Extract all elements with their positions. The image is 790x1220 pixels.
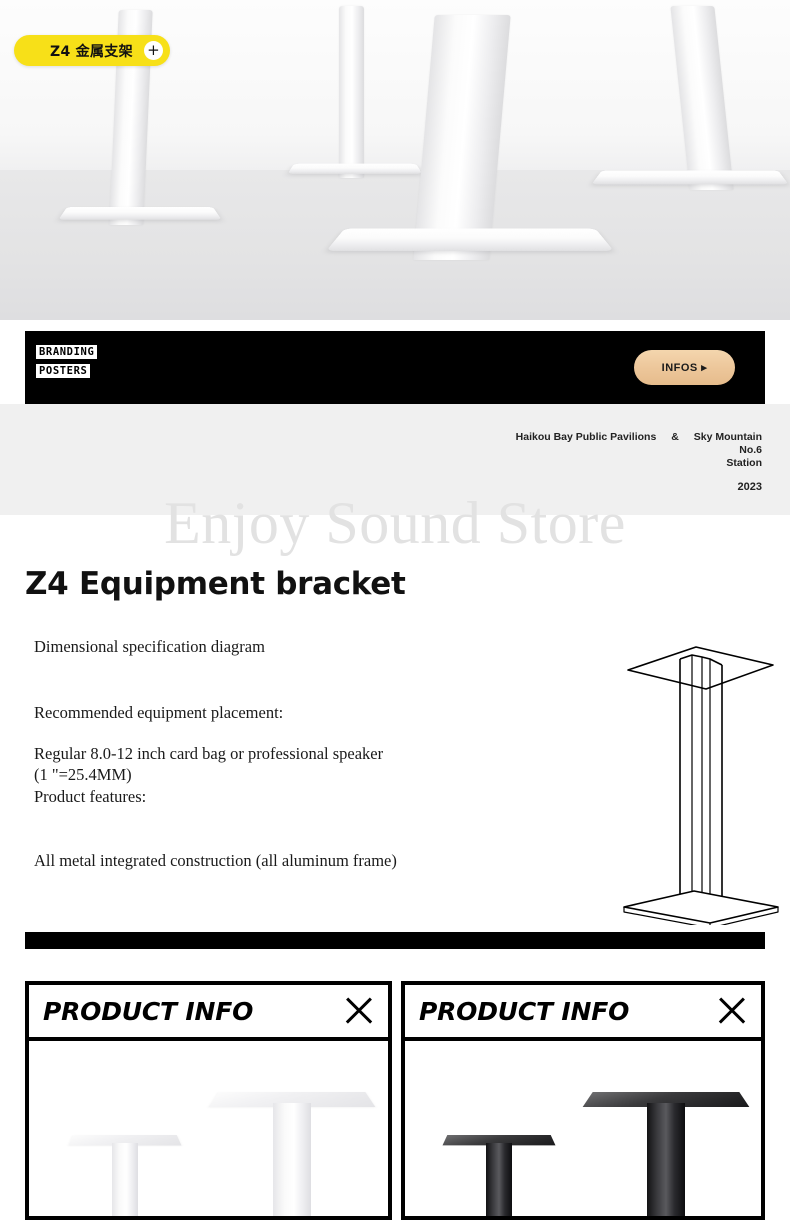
- card-header: PRODUCT INFO: [29, 985, 388, 1041]
- stand-column: [670, 6, 733, 190]
- stand-base: [58, 207, 221, 220]
- product-info-card-black: PRODUCT INFO: [401, 981, 765, 1220]
- stand-post: [273, 1103, 311, 1216]
- stand-post: [647, 1103, 685, 1216]
- credit-partner-line-1: Sky Mountain: [694, 431, 762, 443]
- section-divider: [25, 932, 765, 949]
- credit-ampersand: &: [671, 431, 679, 444]
- close-icon[interactable]: [342, 994, 376, 1028]
- page-title: Z4 Equipment bracket: [25, 566, 406, 602]
- banner-tags: BRANDING POSTERS: [36, 342, 97, 380]
- product-detail-page: Z4 金属支架 + BRANDING POSTERS INFOS ▸ Haiko…: [0, 0, 790, 1220]
- credit-partner-line-3: Station: [516, 457, 762, 470]
- placement-detail: Regular 8.0-12 inch card bag or professi…: [34, 743, 504, 765]
- credit-project: Haikou Bay Public Pavilions: [516, 431, 657, 443]
- hero-stand-far-left: [50, 0, 230, 225]
- credit-partner-line-2: No.6: [516, 444, 762, 457]
- stand-base: [592, 170, 789, 184]
- mini-stand-black-small: [433, 1129, 565, 1216]
- credits-block: Haikou Bay Public Pavilions & Sky Mounta…: [516, 431, 762, 495]
- feature-item-1: All metal integrated construction (all a…: [34, 850, 504, 872]
- infos-button-label: INFOS ▸: [662, 361, 708, 374]
- banner-tag-posters: POSTERS: [36, 364, 90, 378]
- placement-heading: Recommended equipment placement:: [34, 702, 504, 724]
- product-badge[interactable]: Z4 金属支架 +: [14, 35, 170, 66]
- plus-icon[interactable]: +: [144, 41, 163, 60]
- hero-product-photo: Z4 金属支架 +: [0, 0, 790, 320]
- specification-text: Dimensional specification diagram Recomm…: [34, 636, 504, 872]
- card-title: PRODUCT INFO: [43, 997, 253, 1026]
- banner-tag-branding: BRANDING: [36, 345, 97, 359]
- spec-heading: Dimensional specification diagram: [34, 636, 504, 658]
- credit-year: 2023: [516, 481, 762, 494]
- bracket-line-drawing: [618, 635, 783, 925]
- unit-note: (1 "=25.4MM): [34, 764, 504, 786]
- stand-base: [326, 229, 614, 251]
- card-header: PRODUCT INFO: [405, 985, 761, 1041]
- infos-button[interactable]: INFOS ▸: [634, 350, 735, 385]
- product-info-card-white: PRODUCT INFO: [25, 981, 392, 1220]
- mini-stand-white-large: [197, 1083, 387, 1216]
- stand-column: [413, 15, 510, 260]
- branding-banner: BRANDING POSTERS INFOS ▸: [25, 331, 765, 404]
- mini-stand-white-small: [59, 1129, 191, 1216]
- card-image-white-stands: [29, 1041, 388, 1216]
- stand-post: [112, 1143, 138, 1216]
- card-title: PRODUCT INFO: [419, 997, 629, 1026]
- card-image-black-stands: [405, 1041, 761, 1216]
- features-heading: Product features:: [34, 786, 504, 808]
- mini-stand-black-large: [571, 1083, 761, 1216]
- close-icon[interactable]: [715, 994, 749, 1028]
- stand-post: [486, 1143, 512, 1216]
- product-badge-label: Z4 金属支架: [50, 41, 133, 61]
- hero-stand-front-large: [320, 0, 620, 260]
